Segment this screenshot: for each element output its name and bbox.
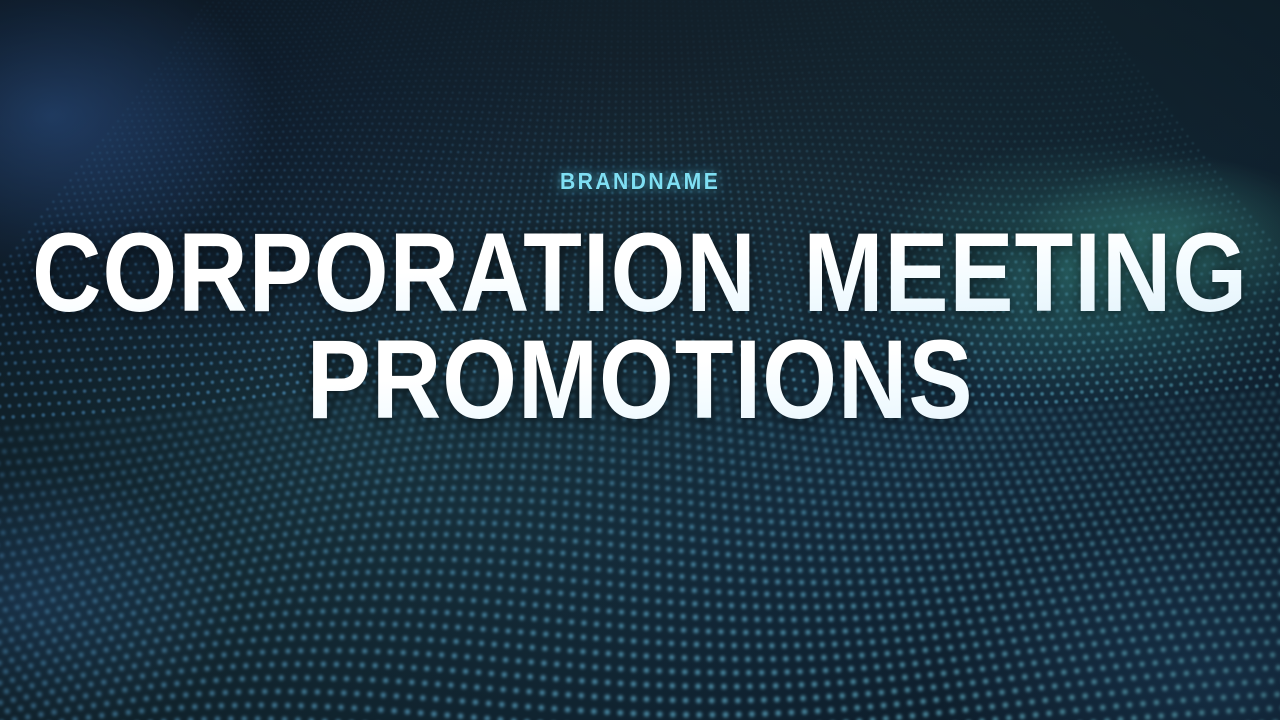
headline-line-1: CORPORATION MEETING xyxy=(32,221,1248,324)
title-slide: BRANDNAME CORPORATION MEETING PROMOTIONS xyxy=(0,0,1280,720)
headline-line-2: PROMOTIONS xyxy=(32,328,1248,431)
headline-block: CORPORATION MEETING PROMOTIONS xyxy=(0,221,1280,431)
brand-name-label: BRANDNAME xyxy=(560,168,720,195)
slide-content: BRANDNAME CORPORATION MEETING PROMOTIONS xyxy=(0,0,1280,720)
